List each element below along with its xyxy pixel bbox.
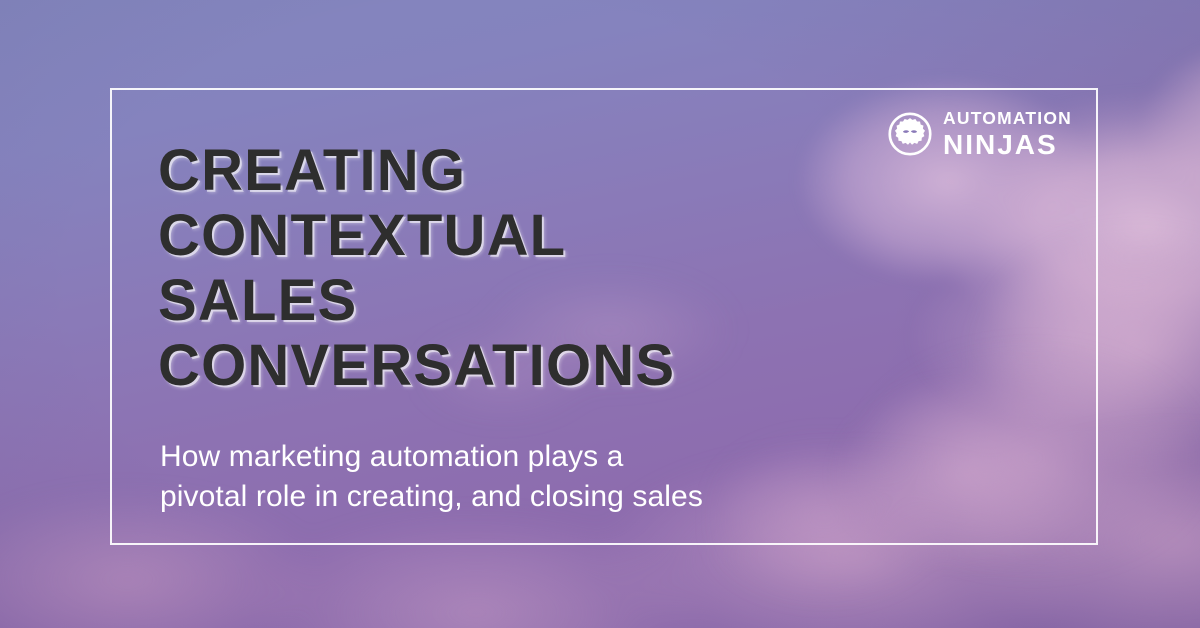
headline-line-1: CREATING — [158, 138, 918, 203]
headline-line-4: CONVERSATIONS — [158, 333, 918, 398]
headline-line-2: CONTEXTUAL — [158, 203, 918, 268]
promo-banner: AUTOMATION NINJAS CREATING CONTEXTUAL SA… — [0, 0, 1200, 628]
subtitle-line-2: pivotal role in creating, and closing sa… — [160, 477, 940, 517]
brand-word-ninjas: NINJAS — [943, 131, 1072, 159]
headline-line-3: SALES — [158, 268, 918, 333]
brand-logo-wordmark: AUTOMATION NINJAS — [943, 110, 1072, 159]
headline: CREATING CONTEXTUAL SALES CONVERSATIONS — [158, 138, 918, 398]
subtitle: How marketing automation plays a pivotal… — [160, 437, 940, 517]
brand-word-automation: AUTOMATION — [943, 110, 1072, 128]
subtitle-line-1: How marketing automation plays a — [160, 437, 940, 477]
